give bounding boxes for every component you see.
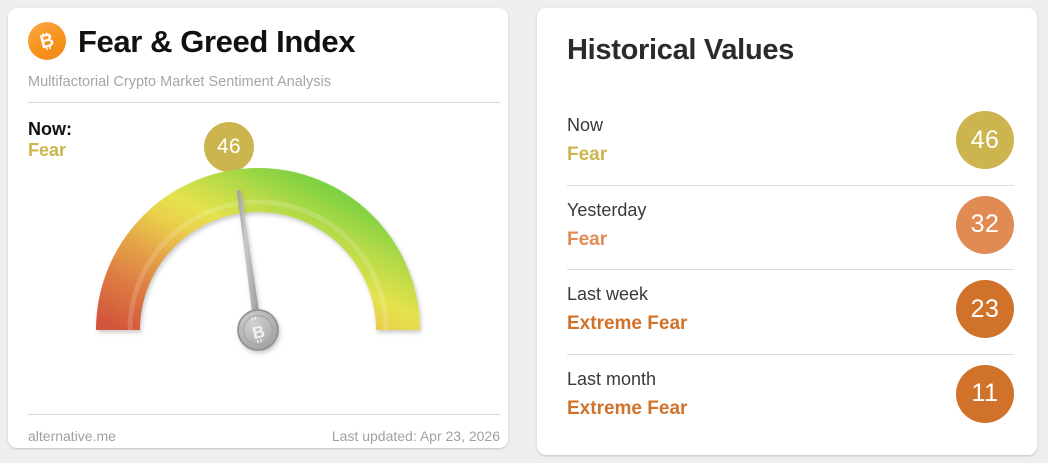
history-row-classification: Extreme Fear bbox=[567, 313, 687, 335]
history-row-period: Yesterday bbox=[567, 200, 646, 221]
bitcoin-icon: B bbox=[28, 22, 66, 60]
now-block: Now: Fear bbox=[28, 119, 72, 161]
now-classification: Fear bbox=[28, 140, 72, 161]
history-row-period: Last week bbox=[567, 284, 648, 305]
now-label: Now: bbox=[28, 119, 72, 140]
page-title: Fear & Greed Index bbox=[78, 26, 355, 57]
history-row-classification: Fear bbox=[567, 229, 607, 251]
history-row[interactable]: YesterdayFear32 bbox=[567, 186, 1014, 271]
history-row-value-badge: 11 bbox=[956, 365, 1014, 423]
page-subtitle: Multifactorial Crypto Market Sentiment A… bbox=[28, 74, 331, 90]
footer-divider bbox=[28, 414, 500, 415]
history-row[interactable]: Last monthExtreme Fear11 bbox=[567, 355, 1014, 440]
gauge-value-bubble: 46 bbox=[204, 122, 254, 172]
fear-greed-gauge: B bbox=[88, 168, 438, 408]
source-link[interactable]: alternative.me bbox=[28, 428, 116, 444]
bitcoin-needle-hub-icon: B bbox=[238, 310, 278, 350]
history-row[interactable]: Last weekExtreme Fear23 bbox=[567, 270, 1014, 355]
history-row-value-badge: 32 bbox=[956, 196, 1014, 254]
history-row-period: Last month bbox=[567, 369, 656, 390]
fear-greed-gauge-card: B Fear & Greed Index Multifactorial Cryp… bbox=[8, 8, 508, 448]
last-updated-text: Last updated: Apr 23, 2026 bbox=[332, 428, 500, 444]
history-row-classification: Extreme Fear bbox=[567, 398, 687, 420]
gauge-card-header: B Fear & Greed Index bbox=[28, 22, 490, 60]
history-list: NowFear46YesterdayFear32Last weekExtreme… bbox=[567, 101, 1014, 439]
history-title: Historical Values bbox=[567, 34, 794, 67]
history-row-value-badge: 23 bbox=[956, 280, 1014, 338]
history-row[interactable]: NowFear46 bbox=[567, 101, 1014, 186]
historical-values-card: Historical Values NowFear46YesterdayFear… bbox=[537, 8, 1037, 455]
page-root: B Fear & Greed Index Multifactorial Cryp… bbox=[0, 0, 1048, 463]
header-divider bbox=[28, 102, 500, 103]
gauge-card-footer: alternative.me Last updated: Apr 23, 202… bbox=[28, 428, 500, 444]
history-row-value-badge: 46 bbox=[956, 111, 1014, 169]
history-row-period: Now bbox=[567, 115, 603, 136]
history-row-classification: Fear bbox=[567, 144, 607, 166]
gauge-value-text: 46 bbox=[217, 135, 241, 159]
